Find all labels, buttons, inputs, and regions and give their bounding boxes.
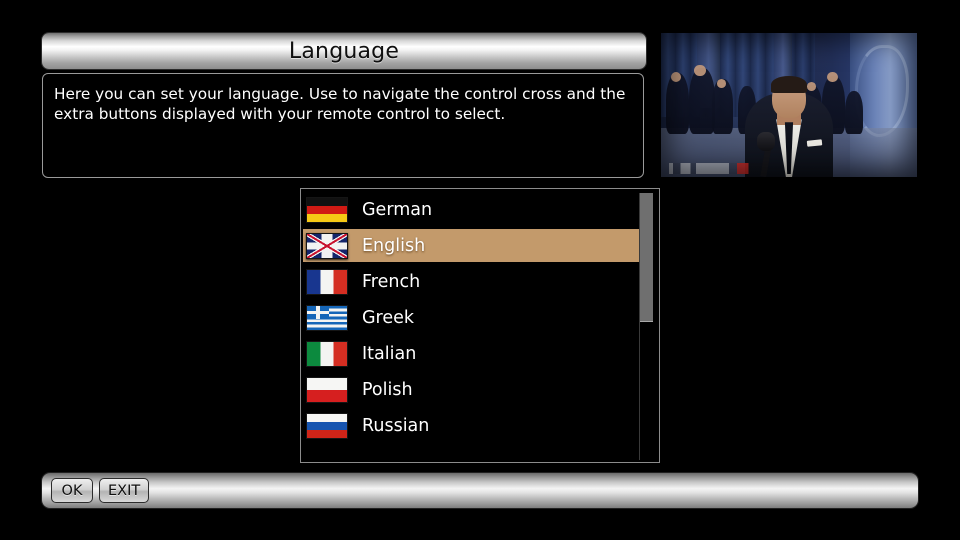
ok-button[interactable]: OK	[51, 478, 93, 503]
language-row-english[interactable]: English	[303, 229, 643, 262]
language-row-french[interactable]: French	[303, 265, 643, 298]
preview-vignette	[661, 33, 917, 177]
language-label: Russian	[362, 416, 429, 436]
language-label: German	[362, 200, 432, 220]
flag-italy-icon	[306, 341, 348, 367]
language-row-russian[interactable]: Russian	[303, 409, 643, 442]
language-row-italian[interactable]: Italian	[303, 337, 643, 370]
language-row-german[interactable]: German	[303, 193, 643, 226]
language-label: Polish	[362, 380, 413, 400]
flag-france-icon	[306, 269, 348, 295]
language-label: English	[362, 236, 425, 256]
flag-russia-icon	[306, 413, 348, 439]
language-row-polish[interactable]: Polish	[303, 373, 643, 406]
flag-united-kingdom-icon	[306, 233, 348, 259]
flag-greece-icon	[306, 305, 348, 331]
language-row-greek[interactable]: Greek	[303, 301, 643, 334]
help-description-panel: Here you can set your language. Use to n…	[42, 73, 644, 178]
language-list-panel[interactable]: GermanEnglishFrenchGreekItalianPolishRus…	[300, 188, 660, 463]
flag-poland-icon	[306, 377, 348, 403]
language-label: Italian	[362, 344, 416, 364]
language-label: French	[362, 272, 420, 292]
exit-button[interactable]: EXIT	[99, 478, 149, 503]
tv-settings-screen: Language Here you can set your language.…	[0, 0, 960, 540]
help-description-text: Here you can set your language. Use to n…	[54, 84, 632, 124]
page-title: Language	[289, 39, 399, 64]
language-list: GermanEnglishFrenchGreekItalianPolishRus…	[301, 189, 645, 462]
language-label: Greek	[362, 308, 414, 328]
language-list-scrollbar[interactable]	[639, 193, 653, 460]
flag-germany-icon	[306, 197, 348, 223]
window-title-bar: Language	[42, 33, 646, 69]
action-bar: OK EXIT	[42, 473, 918, 508]
scrollbar-thumb[interactable]	[640, 193, 653, 322]
live-tv-preview[interactable]	[660, 32, 918, 178]
